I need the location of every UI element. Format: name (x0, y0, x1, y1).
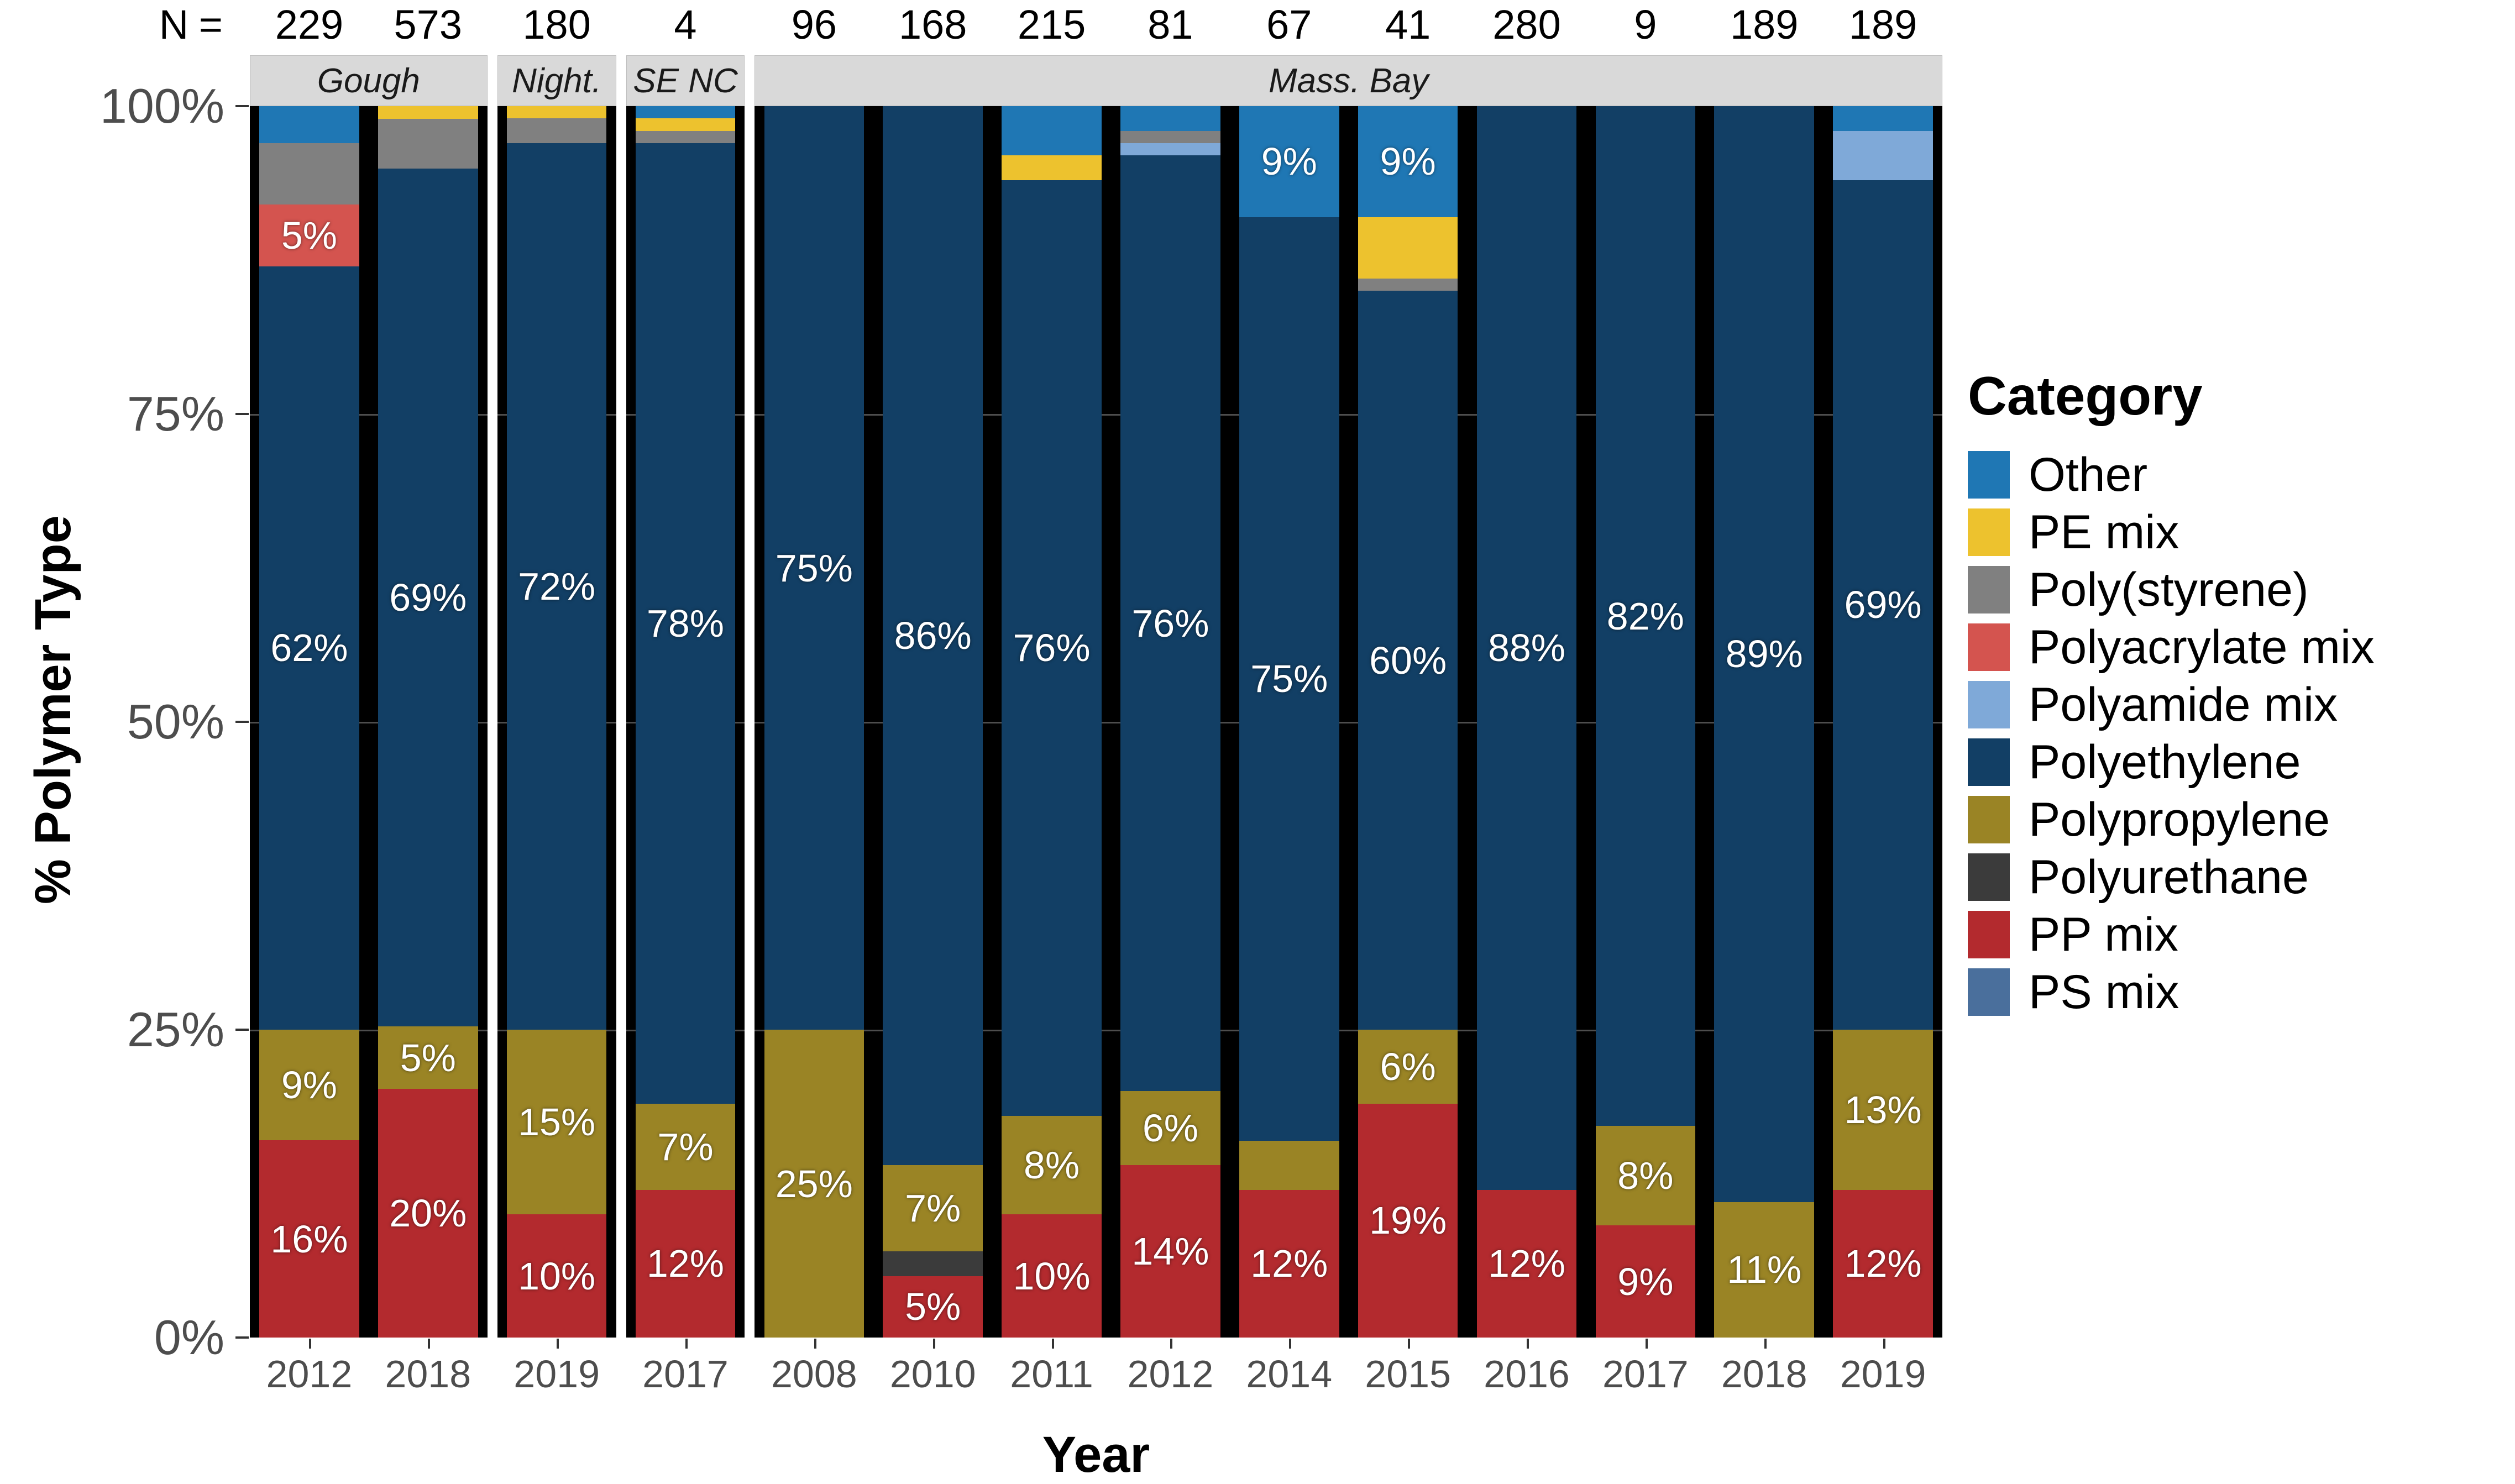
bar-segment-polyethylene[interactable]: 69% (1833, 180, 1932, 1030)
x-axis-tick-label: 2011 (1010, 1352, 1093, 1396)
facet-strip-se-nc: SE NC (626, 55, 745, 106)
bar-segment-polyethylene[interactable]: 62% (259, 266, 359, 1030)
bar-slot: 5%62%9%16% (250, 106, 369, 1338)
bar-segment-other[interactable] (1120, 106, 1220, 131)
segment-value-label: 76% (1013, 628, 1091, 667)
legend-item-label: Poly(styrene) (2029, 563, 2309, 617)
bar-segment-pp-mix[interactable]: 5% (883, 1276, 982, 1338)
x-axis-tick-mark (428, 1339, 430, 1349)
sample-size-count: 81 (1148, 1, 1193, 48)
y-axis-tick-label: 25% (127, 1001, 224, 1058)
legend-color-swatch (1968, 623, 2010, 671)
bar-segment-pe-mix[interactable] (378, 106, 478, 119)
legend-item-label: Polyamide mix (2029, 678, 2338, 732)
x-axis-tick-mark (1289, 1339, 1291, 1349)
bar-segment-polypropylene[interactable]: 8% (1002, 1116, 1101, 1214)
legend-color-swatch (1968, 566, 2010, 613)
legend-item-polyamide-mix[interactable]: Polyamide mix (1968, 676, 2375, 733)
x-axis-tick-mark (814, 1339, 816, 1349)
segment-value-label: 7% (905, 1189, 961, 1228)
legend-item-pp-mix[interactable]: PP mix (1968, 906, 2375, 963)
segment-value-label: 10% (1013, 1257, 1091, 1296)
segment-value-label: 20% (389, 1194, 467, 1233)
legend-item-pe-mix[interactable]: PE mix (1968, 504, 2375, 561)
y-axis-tick-mark (235, 721, 249, 723)
bar-segment-polyethylene[interactable]: 60% (1358, 291, 1458, 1030)
chart-figure: N = 2295731804961682158167412809189189 G… (0, 0, 2515, 1433)
x-axis-title: Year (0, 1426, 2192, 1484)
bar-segment-polyethylene[interactable]: 82% (1596, 106, 1695, 1126)
y-axis-tick-label: 100% (100, 78, 224, 134)
legend-item-label: Polyethylene (2029, 735, 2301, 790)
bar-segment-polyethylene[interactable]: 76% (1120, 155, 1220, 1091)
x-axis-tick-label: 2016 (1484, 1352, 1570, 1396)
segment-value-label: 8% (1617, 1156, 1673, 1195)
x-axis-tick-label: 2018 (385, 1352, 471, 1396)
bar-segment-polypropylene[interactable]: 6% (1358, 1030, 1458, 1104)
x-axis-tick-label: 2012 (266, 1352, 353, 1396)
bar-segment-polyacrylate-mix[interactable]: 5% (259, 204, 359, 266)
stacked-bar-2016[interactable]: 88%12% (1477, 106, 1576, 1338)
bar-segment-polypropylene[interactable]: 8% (1596, 1126, 1695, 1225)
plot-panel-mass-bay: 75%25%86%7%5%76%8%10%76%6%14%9%75%12%9%6… (754, 106, 1942, 1338)
x-axis-tick-label: 2017 (642, 1352, 729, 1396)
segment-value-label: 5% (281, 216, 337, 255)
segment-value-label: 13% (1845, 1090, 1922, 1129)
bar-slot: 88%12% (1468, 106, 1586, 1338)
segment-value-label: 9% (1380, 142, 1436, 181)
segment-value-label: 12% (1488, 1244, 1565, 1283)
bar-segment-polypropylene[interactable]: 6% (1120, 1091, 1220, 1165)
legend-color-swatch (1968, 968, 2010, 1016)
bar-segment-polypropylene[interactable]: 9% (259, 1030, 359, 1141)
sample-size-count: 189 (1849, 1, 1917, 48)
bar-segment-polypropylene[interactable]: 7% (636, 1104, 735, 1190)
segment-value-label: 10% (518, 1257, 595, 1296)
legend-item-ps-mix[interactable]: PS mix (1968, 963, 2375, 1021)
bar-segment-poly-styrene[interactable] (1358, 279, 1458, 291)
legend-color-swatch (1968, 911, 2010, 958)
x-axis-tick-label: 2019 (514, 1352, 600, 1396)
segment-value-label: 69% (389, 578, 467, 617)
segment-value-label: 5% (400, 1039, 456, 1077)
stacked-bar-2012[interactable]: 5%62%9%16% (259, 106, 359, 1338)
stacked-bar-2010[interactable]: 86%7%5% (883, 106, 982, 1338)
x-axis-tick-mark (1883, 1339, 1885, 1349)
x-axis-tick-label: 2019 (1840, 1352, 1926, 1396)
sample-size-count: 573 (394, 1, 462, 48)
legend-item-polypropylene[interactable]: Polypropylene (1968, 791, 2375, 848)
y-axis-tick-label: 0% (154, 1309, 224, 1366)
bar-segment-poly-styrene[interactable] (636, 131, 735, 143)
x-axis-tick-label: 2008 (771, 1352, 857, 1396)
bar-segment-other[interactable] (1002, 106, 1101, 155)
segment-value-label: 7% (657, 1128, 713, 1166)
x-axis-tick-mark (685, 1339, 688, 1349)
y-axis-tick-label: 50% (127, 694, 224, 750)
legend-color-swatch (1968, 738, 2010, 786)
bar-slot: 75%25% (754, 106, 873, 1338)
bar-segment-pp-mix[interactable]: 9% (1596, 1225, 1695, 1338)
legend-item-label: PS mix (2029, 965, 2179, 1020)
facet-strip-label: Mass. Bay (1269, 61, 1428, 101)
bar-slot: 9%60%6%19% (1349, 106, 1468, 1338)
bar-segment-other[interactable]: 9% (1239, 106, 1339, 217)
bar-segment-polypropylene[interactable]: 15% (507, 1030, 606, 1214)
segment-value-label: 25% (776, 1165, 853, 1203)
legend: Category OtherPE mixPoly(styrene)Polyacr… (1968, 365, 2375, 1021)
sample-size-count: 189 (1730, 1, 1798, 48)
x-axis-tick-mark (309, 1339, 311, 1349)
stacked-bar-2011[interactable]: 76%8%10% (1002, 106, 1101, 1338)
bar-segment-polyethylene[interactable]: 75% (1239, 217, 1339, 1141)
bar-segment-pe-mix[interactable] (1002, 155, 1101, 180)
bar-segment-other[interactable] (259, 106, 359, 143)
segment-value-label: 14% (1131, 1232, 1209, 1271)
legend-item-label: Polyacrylate mix (2029, 620, 2375, 675)
bar-segment-pp-mix[interactable]: 12% (1239, 1190, 1339, 1338)
bar-segment-pe-mix[interactable] (636, 118, 735, 130)
bar-segment-polyethylene[interactable]: 78% (636, 143, 735, 1104)
legend-item-polyacrylate-mix[interactable]: Polyacrylate mix (1968, 618, 2375, 676)
bar-segment-pp-mix[interactable]: 10% (507, 1214, 606, 1338)
stacked-bar-2018[interactable]: 69%5%20% (378, 106, 478, 1338)
sample-size-count: 215 (1018, 1, 1086, 48)
sample-size-count: 229 (275, 1, 343, 48)
bar-slot: 76%6%14% (1111, 106, 1230, 1338)
segment-value-label: 15% (518, 1103, 595, 1141)
bar-segment-polyurethane[interactable] (883, 1251, 982, 1276)
bar-slot: 78%7%12% (626, 106, 745, 1338)
x-axis-tick-mark (1052, 1339, 1054, 1349)
bar-slot: 69%5%20% (369, 106, 488, 1338)
segment-value-label: 75% (776, 549, 853, 588)
segment-value-label: 12% (1845, 1244, 1922, 1283)
bar-segment-pp-mix[interactable]: 12% (1477, 1190, 1576, 1338)
x-axis-tick-mark (933, 1339, 935, 1349)
bar-segment-poly-styrene[interactable] (378, 119, 478, 169)
segment-value-label: 6% (1380, 1047, 1436, 1086)
legend-item-label: Polypropylene (2029, 793, 2330, 847)
bar-segment-pp-mix[interactable]: 16% (259, 1140, 359, 1337)
bar-segment-polyamide-mix[interactable] (1833, 131, 1932, 180)
y-axis-tick-mark (235, 1029, 249, 1031)
n-row: N = 2295731804961682158167412809189189 (0, 0, 2515, 55)
bar-segment-pp-mix[interactable]: 12% (636, 1190, 735, 1338)
x-axis-tick-label: 2012 (1128, 1352, 1214, 1396)
bar-slot: 82%8%9% (1586, 106, 1705, 1338)
facet-strip-label: SE NC (633, 61, 737, 101)
stacked-bar-2019[interactable]: 72%15%10% (507, 106, 606, 1338)
bar-slot: 9%75%12% (1230, 106, 1349, 1338)
bar-slot: 76%8%10% (992, 106, 1111, 1338)
sample-size-count: 96 (792, 1, 837, 48)
y-axis-tick-mark (235, 105, 249, 107)
bar-segment-polypropylene[interactable]: 7% (883, 1165, 982, 1251)
x-axis-tick-label: 2017 (1602, 1352, 1689, 1396)
bar-segment-polypropylene[interactable] (1239, 1141, 1339, 1190)
stacked-bar-2015[interactable]: 9%60%6%19% (1358, 106, 1458, 1338)
x-axis-tick-label: 2018 (1721, 1352, 1807, 1396)
sample-size-count: 168 (899, 1, 967, 48)
bar-segment-polyethylene[interactable]: 76% (1002, 180, 1101, 1116)
bar-segment-polyethylene[interactable]: 88% (1477, 106, 1576, 1190)
plot-panel-se-nc: 78%7%12% (626, 106, 745, 1338)
stacked-bar-2008[interactable]: 75%25% (764, 106, 864, 1338)
bar-slot: 89%11% (1705, 106, 1824, 1338)
segment-value-label: 5% (905, 1287, 961, 1326)
bar-segment-pe-mix[interactable] (507, 106, 606, 118)
plot-panel-night: 72%15%10% (497, 106, 616, 1338)
segment-value-label: 76% (1131, 604, 1209, 643)
bar-segment-polyethylene[interactable]: 86% (883, 106, 982, 1165)
stacked-bar-2018[interactable]: 89%11% (1714, 106, 1814, 1338)
segment-value-label: 86% (894, 616, 972, 655)
bar-slot: 72%15%10% (497, 106, 616, 1338)
legend-item-other[interactable]: Other (1968, 446, 2375, 504)
legend-color-swatch (1968, 853, 2010, 901)
legend-item-label: PP mix (2029, 908, 2178, 962)
x-axis-tick-mark (557, 1339, 559, 1349)
x-axis-tick-mark (1527, 1339, 1529, 1349)
y-axis-tick-label: 75% (127, 386, 224, 442)
legend-color-swatch (1968, 681, 2010, 728)
facet-strip-night: Night. (497, 55, 616, 106)
sample-size-count: 180 (522, 1, 590, 48)
legend-title: Category (1968, 365, 2375, 427)
x-axis-tick-mark (1646, 1339, 1648, 1349)
stacked-bar-2017[interactable]: 78%7%12% (636, 106, 735, 1338)
segment-value-label: 82% (1607, 597, 1684, 636)
x-axis-tick-label: 2014 (1246, 1352, 1332, 1396)
stacked-bar-2019[interactable]: 69%13%12% (1833, 106, 1932, 1338)
legend-item-poly-styrene[interactable]: Poly(styrene) (1968, 561, 2375, 618)
legend-item-label: Polyurethane (2029, 850, 2309, 905)
x-axis-tick-label: 2015 (1365, 1352, 1451, 1396)
bar-segment-polyethylene[interactable]: 75% (764, 106, 864, 1030)
segment-value-label: 89% (1726, 634, 1803, 673)
segment-value-label: 11% (1727, 1250, 1801, 1289)
bar-slot: 86%7%5% (873, 106, 992, 1338)
bar-segment-other[interactable] (636, 106, 735, 118)
facet-strip-mass-bay: Mass. Bay (754, 55, 1942, 106)
segment-value-label: 6% (1143, 1109, 1198, 1147)
bar-segment-poly-styrene[interactable] (1120, 131, 1220, 143)
sample-size-count: 67 (1266, 1, 1312, 48)
bar-segment-polyethylene[interactable]: 72% (507, 143, 606, 1030)
y-axis-tick-mark (235, 1336, 249, 1339)
segment-value-label: 12% (1250, 1244, 1328, 1283)
plot-panel-gough: 5%62%9%16%69%5%20% (250, 106, 488, 1338)
segment-value-label: 9% (1617, 1262, 1673, 1301)
bar-segment-polyethylene[interactable]: 69% (378, 169, 478, 1027)
bar-segment-pp-mix[interactable]: 12% (1833, 1190, 1932, 1338)
sample-size-count: 4 (674, 1, 696, 48)
bar-segment-pp-mix[interactable]: 20% (378, 1089, 478, 1338)
x-axis-tick-mark (1170, 1339, 1172, 1349)
bar-segment-poly-styrene[interactable] (259, 143, 359, 204)
n-equals-label: N = (56, 1, 222, 48)
bar-segment-polypropylene[interactable]: 5% (378, 1026, 478, 1089)
bar-segment-other[interactable] (1833, 106, 1932, 131)
bar-segment-poly-styrene[interactable] (507, 118, 606, 143)
facet-strip-label: Gough (317, 61, 420, 101)
y-axis-tick-mark (235, 413, 249, 415)
segment-value-label: 12% (647, 1244, 724, 1283)
y-axis-title: % Polymer Type (24, 515, 82, 904)
bar-segment-polypropylene[interactable]: 25% (764, 1030, 864, 1338)
legend-item-polyurethane[interactable]: Polyurethane (1968, 848, 2375, 906)
segment-value-label: 69% (1845, 585, 1922, 624)
segment-value-label: 62% (270, 628, 348, 667)
segment-value-label: 78% (647, 604, 724, 643)
bar-segment-pp-mix[interactable]: 10% (1002, 1214, 1101, 1338)
bar-segment-polypropylene[interactable]: 11% (1714, 1202, 1814, 1338)
x-axis-tick-mark (1408, 1339, 1410, 1349)
segment-value-label: 19% (1369, 1201, 1447, 1240)
sample-size-count: 280 (1492, 1, 1560, 48)
bar-segment-polyethylene[interactable]: 89% (1714, 106, 1814, 1202)
segment-value-label: 8% (1024, 1146, 1080, 1184)
bar-slot: 69%13%12% (1824, 106, 1942, 1338)
x-axis-tick-label: 2010 (890, 1352, 976, 1396)
facet-strip-gough: Gough (250, 55, 488, 106)
segment-value-label: 75% (1250, 659, 1328, 698)
bar-segment-pp-mix[interactable]: 14% (1120, 1165, 1220, 1338)
bar-segment-pp-mix[interactable]: 19% (1358, 1104, 1458, 1338)
legend-item-label: PE mix (2029, 505, 2179, 560)
segment-value-label: 60% (1369, 641, 1447, 680)
segment-value-label: 16% (270, 1220, 348, 1258)
facet-strip-label: Night. (512, 61, 601, 101)
sample-size-count: 9 (1634, 1, 1657, 48)
legend-item-polyethylene[interactable]: Polyethylene (1968, 733, 2375, 791)
segment-value-label: 9% (1261, 142, 1317, 181)
legend-color-swatch (1968, 451, 2010, 499)
stacked-bar-2017[interactable]: 82%8%9% (1596, 106, 1695, 1338)
segment-value-label: 72% (518, 567, 595, 606)
stacked-bar-2012[interactable]: 76%6%14% (1120, 106, 1220, 1338)
x-axis-tick-mark (1764, 1339, 1767, 1349)
legend-color-swatch (1968, 508, 2010, 556)
legend-item-label: Other (2029, 448, 2147, 502)
bar-segment-polyamide-mix[interactable] (1120, 143, 1220, 155)
segment-value-label: 88% (1488, 628, 1565, 667)
segment-value-label: 9% (281, 1066, 337, 1104)
bar-segment-polypropylene[interactable]: 13% (1833, 1030, 1932, 1190)
bar-segment-pe-mix[interactable] (1358, 217, 1458, 279)
legend-color-swatch (1968, 796, 2010, 843)
bar-segment-other[interactable]: 9% (1358, 106, 1458, 217)
stacked-bar-2014[interactable]: 9%75%12% (1239, 106, 1339, 1338)
sample-size-count: 41 (1385, 1, 1431, 48)
